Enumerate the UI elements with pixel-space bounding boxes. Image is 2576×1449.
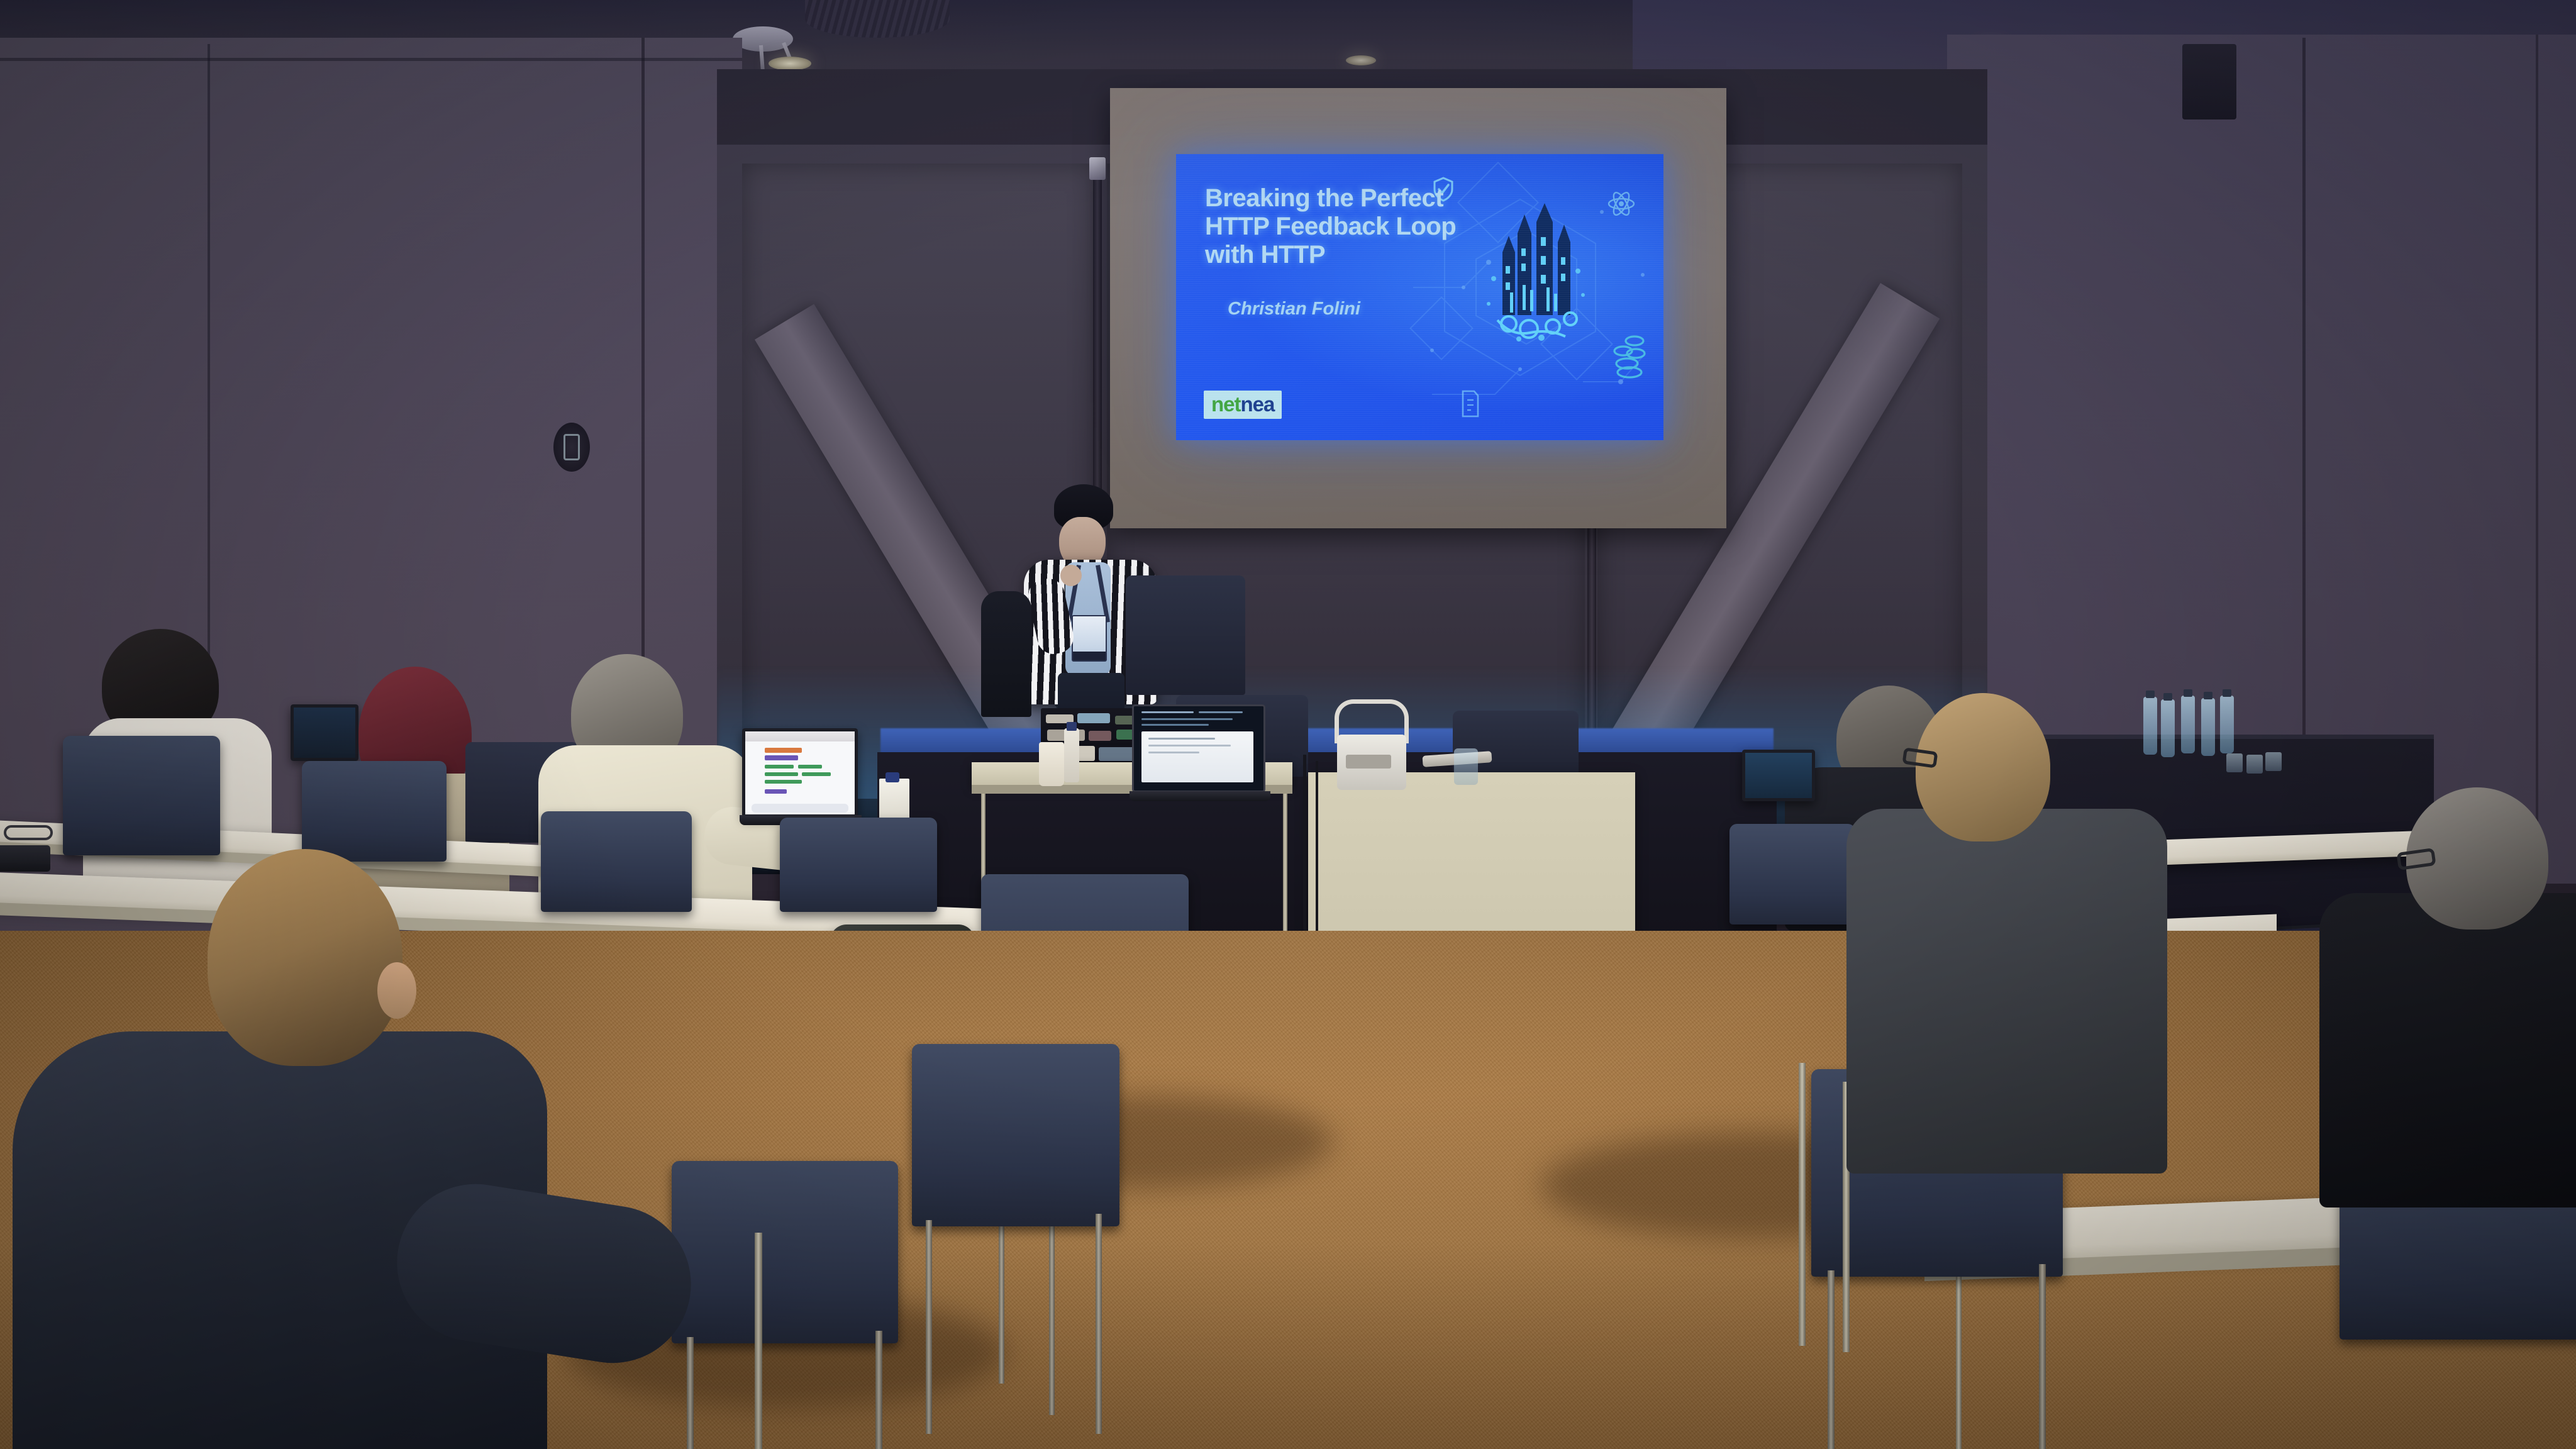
carton-cap: [885, 772, 899, 782]
speaker-grille-icon: [553, 423, 590, 472]
water-bottle[interactable]: [1064, 728, 1079, 782]
chair-leg: [1828, 1270, 1835, 1449]
table-leg: [755, 1233, 762, 1449]
stool[interactable]: [981, 591, 1031, 717]
logo-text-nea: nea: [1241, 392, 1275, 416]
ceiling-light-icon: [769, 57, 811, 70]
presenter-laptop-base: [1130, 791, 1270, 801]
chair[interactable]: [1729, 824, 1855, 924]
audience-torso: [1846, 809, 2167, 1174]
audience-laptop[interactable]: [1742, 750, 1815, 801]
netnea-logo: netnea: [1204, 391, 1282, 419]
drinking-glass[interactable]: [2265, 752, 2282, 771]
wall-port-panel: [2182, 44, 2236, 119]
wall-seam: [2536, 35, 2538, 852]
table-leg: [1956, 1267, 1962, 1449]
water-bottle[interactable]: [2201, 698, 2215, 756]
presenter-laptop[interactable]: [1132, 704, 1265, 792]
coffee-cup[interactable]: [1039, 742, 1064, 786]
table-leg: [1799, 1063, 1806, 1346]
audience-torso: [2319, 893, 2576, 1207]
atom-icon: [1607, 189, 1636, 218]
chair[interactable]: [672, 1161, 898, 1343]
slide-author: Christian Folini: [1228, 299, 1360, 319]
conference-badge: [1072, 615, 1107, 662]
water-bottle[interactable]: [2220, 696, 2234, 753]
slide-title: Breaking the Perfect HTTP Feedback Loop …: [1205, 184, 1475, 269]
ceiling-light-icon: [1346, 55, 1376, 65]
logo-text-net: net: [1211, 392, 1241, 416]
audience-laptop[interactable]: [291, 704, 358, 761]
chair[interactable]: [1126, 575, 1245, 695]
water-glass[interactable]: [1454, 748, 1478, 785]
rear-counter-light: [880, 728, 1774, 753]
chair[interactable]: [302, 761, 447, 862]
eyeglasses-icon[interactable]: [4, 825, 53, 840]
conference-room-photo: Breaking the Perfect HTTP Feedback Loop …: [0, 0, 2576, 1449]
audience-head: [208, 849, 402, 1066]
chair-leg: [1096, 1214, 1102, 1434]
document-icon: [1460, 390, 1480, 418]
chair-leg: [1049, 1214, 1055, 1415]
presenter-hand: [1060, 565, 1082, 586]
audience-ear: [377, 962, 416, 1019]
projected-slide: Breaking the Perfect HTTP Feedback Loop …: [1176, 154, 1663, 440]
audience-head: [1916, 693, 2050, 841]
water-bottle[interactable]: [2181, 696, 2195, 753]
water-bottle[interactable]: [2143, 697, 2157, 755]
chair-leg: [687, 1337, 694, 1449]
wall-trim: [0, 58, 742, 61]
chair-leg: [875, 1331, 882, 1449]
chair-leg: [2039, 1264, 2046, 1449]
chair[interactable]: [912, 1044, 1119, 1226]
water-bottle-cap: [1067, 722, 1077, 731]
air-vent-icon: [805, 0, 950, 38]
drinking-glass[interactable]: [2226, 753, 2243, 772]
stacked-coins-icon: [1611, 333, 1650, 379]
chair[interactable]: [780, 818, 937, 912]
chair[interactable]: [541, 811, 692, 912]
water-bottle[interactable]: [2161, 699, 2175, 757]
chair-leg: [926, 1220, 932, 1434]
chair[interactable]: [63, 736, 220, 855]
drinking-glass[interactable]: [2246, 755, 2263, 774]
macbook[interactable]: [742, 728, 858, 818]
cyber-castle-illustration-icon: [1479, 203, 1593, 348]
device-case[interactable]: [0, 845, 50, 872]
